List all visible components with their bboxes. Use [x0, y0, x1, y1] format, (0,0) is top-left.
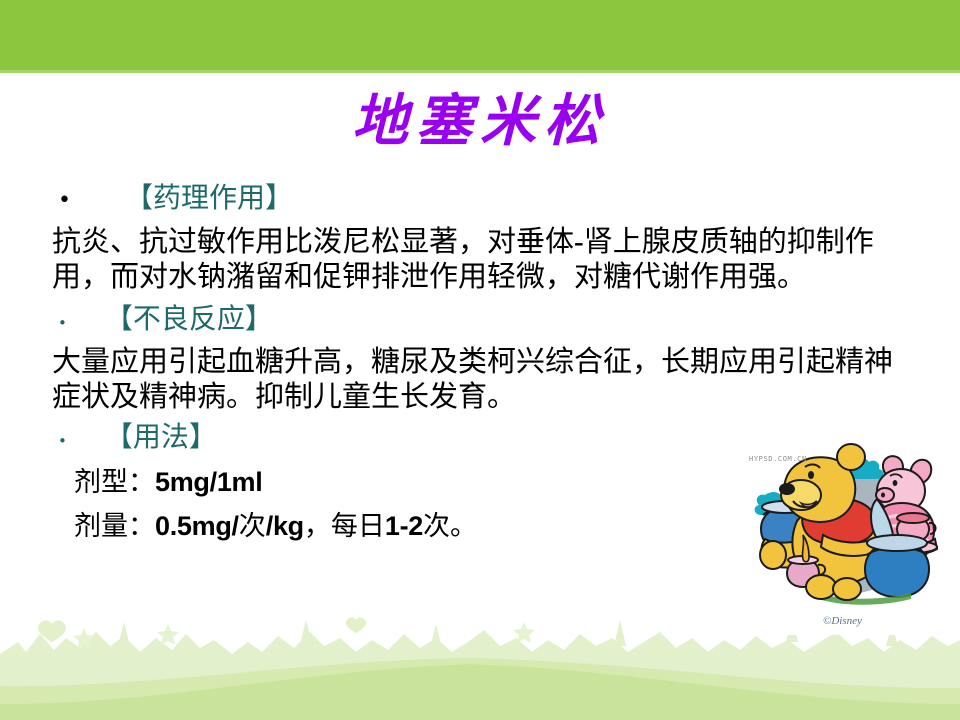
- dosage-amount-value: 0.5mg/: [155, 511, 239, 541]
- section-heading-pharmacology: • 【药理作用】: [0, 180, 960, 218]
- dosage-period: 。: [450, 511, 477, 541]
- clipart-winnie-the-pooh: HYPSD.COM.CN ©Disney: [735, 443, 950, 635]
- paragraph-hyphen: -: [574, 226, 584, 258]
- dosage-separator: ，: [304, 511, 331, 541]
- slide-canvas: 地塞米松 • 【药理作用】 抗炎、抗过敏作用比泼尼松显著，对垂体-肾上腺皮质轴的…: [0, 0, 960, 720]
- bullet-icon: •: [58, 190, 71, 212]
- blue-pot-right: [865, 535, 929, 597]
- dosage-amount-label: 剂量：: [74, 511, 155, 541]
- paragraph-pharmacology: 抗炎、抗过敏作用比泼尼松显著，对垂体-肾上腺皮质轴的抑制作用，而对水钠潴留和促钾…: [0, 225, 960, 295]
- dosage-frequency-label: 每日: [331, 511, 385, 541]
- top-green-band: [0, 0, 960, 73]
- watermark-text: HYPSD.COM.CN: [749, 455, 807, 463]
- dosage-amount-unit-ci: 次: [239, 511, 266, 541]
- bullet-icon: •: [58, 434, 67, 449]
- page-title: 地塞米松: [0, 90, 960, 154]
- dosage-amount-per-kg: /kg: [266, 511, 304, 541]
- pooh-illustration-svg: [735, 443, 950, 635]
- bullet-icon: •: [58, 316, 67, 331]
- dosage-form-value: 5mg/1ml: [155, 467, 262, 497]
- heading-label: 【不良反应】: [105, 301, 273, 339]
- paragraph-adverse-reactions: 大量应用引起血糖升高，糖尿及类柯兴综合征，长期应用引起精神症状及精神病。抑制儿童…: [0, 345, 960, 415]
- heart-shape-2: [346, 617, 366, 633]
- dosage-form-label: 剂型：: [74, 467, 155, 497]
- dosage-frequency-unit: 次: [423, 511, 450, 541]
- copyright-text: ©Disney: [823, 615, 862, 627]
- paragraph-part-1: 抗炎、抗过敏作用比泼尼松显著，对垂体: [52, 226, 574, 258]
- dosage-frequency-value: 1-2: [385, 511, 423, 541]
- heading-label: 【药理作用】: [125, 180, 293, 218]
- top-green-band-edge: [0, 70, 960, 73]
- heading-label: 【用法】: [105, 419, 217, 457]
- section-heading-adverse-reactions: • 【不良反应】: [0, 301, 960, 339]
